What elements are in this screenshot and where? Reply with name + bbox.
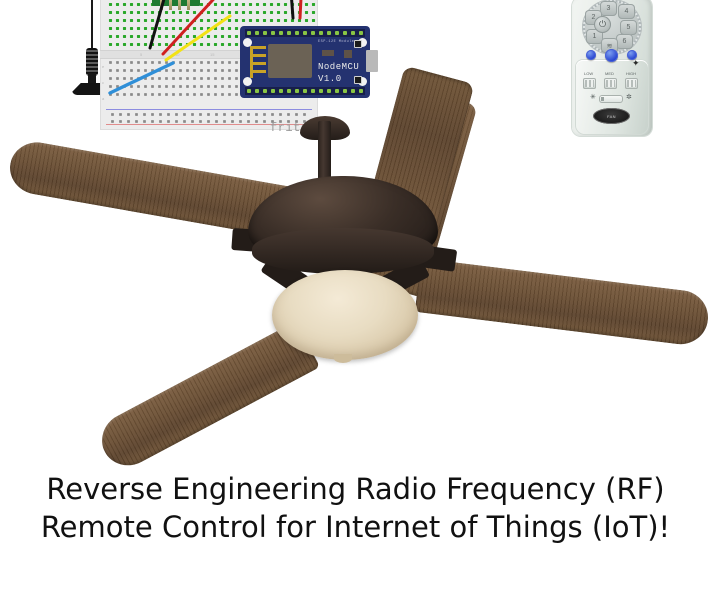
breadboard-hole	[284, 19, 287, 22]
breadboard-hole	[144, 11, 147, 14]
remote-speed-high-label: HIGH	[626, 71, 636, 76]
nodemcu-header-pin	[255, 31, 259, 35]
breadboard-hole	[207, 69, 210, 72]
breadboard-hole	[235, 27, 238, 30]
breadboard-hole	[172, 19, 175, 22]
breadboard-hole	[277, 3, 280, 6]
breadboard-hole	[207, 43, 210, 46]
rf-receiver-module	[152, 0, 200, 6]
breadboard-hole	[123, 43, 126, 46]
breadboard-hole	[130, 27, 133, 30]
nodemcu-pcb-antenna-icon	[250, 46, 266, 78]
breadboard-hole	[165, 43, 168, 46]
nodemcu-header-pin	[279, 31, 283, 35]
breadboard-hole	[193, 19, 196, 22]
ceiling-fan	[0, 78, 711, 468]
rf-pin	[178, 0, 181, 10]
breadboard-hole	[116, 43, 119, 46]
breadboard-col-label: 15	[210, 52, 214, 57]
dimmer-max-icon: ✲	[626, 94, 632, 101]
breadboard-hole	[109, 35, 112, 38]
slide-canvas: 5 10 15 20 25 e c a	[0, 0, 711, 592]
breadboard-hole	[123, 35, 126, 38]
breadboard-hole	[179, 27, 182, 30]
breadboard-hole	[172, 43, 175, 46]
breadboard-hole	[151, 43, 154, 46]
breadboard-hole	[109, 11, 112, 14]
breadboard-hole	[200, 43, 203, 46]
breadboard-hole	[179, 69, 182, 72]
breadboard-hole	[291, 3, 294, 6]
breadboard-hole	[214, 3, 217, 6]
breadboard-hole	[116, 19, 119, 22]
breadboard-hole	[228, 3, 231, 6]
breadboard-hole	[144, 19, 147, 22]
breadboard-hole	[228, 11, 231, 14]
breadboard-hole	[137, 43, 140, 46]
breadboard-hole	[221, 69, 224, 72]
breadboard-hole	[214, 11, 217, 14]
breadboard-hole	[109, 3, 112, 6]
dimmer-min-icon: ✳	[590, 94, 596, 101]
breadboard-hole	[151, 35, 154, 38]
breadboard-hole	[165, 61, 168, 64]
breadboard-hole	[221, 61, 224, 64]
breadboard-hole	[235, 3, 238, 6]
breadboard-hole	[130, 35, 133, 38]
nodemcu-name-line1: NodeMCU	[318, 62, 359, 72]
antenna-whip	[91, 0, 93, 52]
nodemcu-header-pin	[303, 31, 307, 35]
breadboard-hole	[123, 11, 126, 14]
breadboard-hole	[277, 11, 280, 14]
breadboard-hole	[165, 35, 168, 38]
breadboard-hole	[228, 19, 231, 22]
breadboard-hole	[158, 11, 161, 14]
remote-dial-button-4[interactable]: 4	[618, 4, 635, 19]
breadboard-hole	[200, 61, 203, 64]
nodemcu-header-pin	[343, 31, 347, 35]
breadboard-hole	[270, 11, 273, 14]
remote-blue-button-left[interactable]	[586, 50, 596, 60]
remote-speed-med-button[interactable]	[604, 78, 617, 89]
breadboard-hole	[172, 27, 175, 30]
breadboard-hole	[123, 69, 126, 72]
speed-grille	[585, 80, 594, 87]
breadboard-hole	[116, 61, 119, 64]
breadboard-hole	[221, 11, 224, 14]
breadboard-hole	[207, 3, 210, 6]
breadboard-hole	[284, 3, 287, 6]
remote-dial-button-3[interactable]: 3	[600, 1, 617, 16]
remote-dimmer-slider[interactable]	[599, 95, 623, 103]
breadboard-hole	[193, 61, 196, 64]
breadboard-hole	[186, 43, 189, 46]
breadboard-hole	[312, 19, 315, 22]
remote-speed-low-label: LOW	[584, 71, 593, 76]
breadboard-col-label: 10	[175, 52, 179, 57]
breadboard-col-label: 5	[140, 52, 142, 57]
breadboard-hole	[228, 35, 231, 38]
breadboard-hole	[242, 3, 245, 6]
breadboard-hole	[221, 43, 224, 46]
breadboard-hole	[298, 19, 301, 22]
speed-grille	[627, 80, 636, 87]
nodemcu-header-pin	[247, 31, 251, 35]
breadboard-hole	[193, 43, 196, 46]
breadboard-hole	[172, 35, 175, 38]
breadboard-hole	[130, 61, 133, 64]
breadboard-hole	[214, 43, 217, 46]
breadboard-hole	[221, 19, 224, 22]
breadboard-hole	[123, 27, 126, 30]
breadboard-hole	[151, 69, 154, 72]
breadboard-hole	[200, 19, 203, 22]
remote-blue-button-center[interactable]	[605, 49, 618, 62]
breadboard-hole	[137, 35, 140, 38]
breadboard-hole	[144, 27, 147, 30]
breadboard-hole	[270, 3, 273, 6]
remote-speed-high-button[interactable]	[625, 78, 638, 89]
breadboard-hole	[158, 35, 161, 38]
breadboard-hole	[186, 19, 189, 22]
breadboard-hole	[123, 61, 126, 64]
breadboard-hole	[109, 61, 112, 64]
breadboard-hole	[305, 19, 308, 22]
breadboard-hole	[298, 3, 301, 6]
breadboard-hole	[284, 11, 287, 14]
breadboard-hole	[298, 11, 301, 14]
nodemcu-header-pin	[351, 31, 355, 35]
breadboard-hole	[158, 43, 161, 46]
breadboard-hole	[221, 35, 224, 38]
breadboard-hole	[221, 27, 224, 30]
breadboard-hole	[200, 35, 203, 38]
breadboard-hole	[165, 11, 168, 14]
breadboard-hole	[186, 61, 189, 64]
fan-blade	[93, 321, 320, 475]
breadboard-hole	[151, 27, 154, 30]
nodemcu-header-pin	[263, 31, 267, 35]
breadboard-row-label: e	[102, 64, 104, 69]
breadboard-hole	[256, 19, 259, 22]
breadboard-hole	[165, 19, 168, 22]
nodemcu-header-pin	[271, 31, 275, 35]
breadboard-hole	[200, 11, 203, 14]
breadboard-hole	[312, 11, 315, 14]
breadboard-hole	[235, 11, 238, 14]
remote-logo-text: FAN	[607, 114, 616, 119]
breadboard-hole	[200, 27, 203, 30]
breadboard-hole	[116, 3, 119, 6]
breadboard-hole	[130, 43, 133, 46]
breadboard-hole	[200, 69, 203, 72]
breadboard-hole	[242, 11, 245, 14]
breadboard-hole	[151, 19, 154, 22]
breadboard-hole	[256, 3, 259, 6]
remote-power-button[interactable]: ⏻	[594, 16, 611, 33]
slider-thumb[interactable]	[601, 97, 604, 101]
nodemcu-smd-part	[322, 50, 334, 56]
breadboard-hole	[109, 19, 112, 22]
breadboard-hole	[165, 27, 168, 30]
remote-logo-badge: FAN	[593, 108, 630, 124]
breadboard-hole	[116, 69, 119, 72]
breadboard-hole	[116, 27, 119, 30]
nodemcu-header-pin	[335, 31, 339, 35]
breadboard-hole	[193, 35, 196, 38]
breadboard-hole	[109, 27, 112, 30]
nodemcu-header-pin	[359, 31, 363, 35]
breadboard-hole	[116, 35, 119, 38]
page-title: Reverse Engineering Radio Frequency (RF)…	[0, 470, 711, 546]
breadboard-hole	[214, 61, 217, 64]
breadboard-hole	[228, 69, 231, 72]
breadboard-hole	[235, 43, 238, 46]
breadboard-hole	[151, 11, 154, 14]
nodemcu-header-pin	[295, 31, 299, 35]
remote-speed-low-button[interactable]	[583, 78, 596, 89]
rf-pin	[160, 0, 163, 10]
breadboard-hole	[179, 43, 182, 46]
breadboard-hole	[186, 69, 189, 72]
fan-motor-ring	[252, 228, 434, 274]
breadboard-hole	[186, 27, 189, 30]
breadboard-hole	[228, 43, 231, 46]
esp8266-shield	[268, 44, 312, 78]
breadboard-hole	[109, 69, 112, 72]
breadboard-hole	[179, 61, 182, 64]
breadboard-hole	[305, 11, 308, 14]
breadboard-hole	[305, 3, 308, 6]
breadboard-hole	[270, 19, 273, 22]
breadboard-hole	[214, 27, 217, 30]
breadboard-hole	[137, 61, 140, 64]
breadboard-hole	[263, 3, 266, 6]
nodemcu-smd-part	[344, 50, 352, 58]
breadboard-hole	[249, 11, 252, 14]
breadboard-hole	[207, 11, 210, 14]
breadboard-hole	[193, 11, 196, 14]
breadboard-hole	[172, 61, 175, 64]
breadboard-hole	[144, 43, 147, 46]
breadboard-hole	[130, 3, 133, 6]
breadboard-hole	[144, 69, 147, 72]
breadboard-hole	[179, 11, 182, 14]
breadboard-hole	[207, 61, 210, 64]
breadboard-hole	[214, 19, 217, 22]
fan-light-finial	[334, 354, 352, 363]
breadboard-hole	[200, 3, 203, 6]
breadboard-hole	[165, 69, 168, 72]
breadboard-hole	[263, 19, 266, 22]
breadboard-hole	[130, 11, 133, 14]
breadboard-hole	[158, 61, 161, 64]
breadboard-hole	[186, 11, 189, 14]
breadboard-hole	[144, 3, 147, 6]
breadboard-hole	[221, 3, 224, 6]
breadboard-hole	[291, 11, 294, 14]
breadboard-hole	[144, 35, 147, 38]
breadboard-hole	[137, 27, 140, 30]
breadboard-hole	[207, 27, 210, 30]
breadboard-hole	[249, 19, 252, 22]
breadboard-hole	[109, 43, 112, 46]
breadboard-hole	[235, 35, 238, 38]
breadboard-hole	[263, 11, 266, 14]
breadboard-hole	[193, 27, 196, 30]
breadboard-hole	[228, 61, 231, 64]
nodemcu-flash-button[interactable]	[354, 40, 362, 48]
breadboard-hole	[228, 27, 231, 30]
breadboard-hole	[158, 69, 161, 72]
breadboard-hole	[179, 35, 182, 38]
rf-pin	[169, 0, 172, 10]
breadboard-hole	[249, 3, 252, 6]
breadboard-hole	[291, 19, 294, 22]
breadboard-hole	[242, 19, 245, 22]
breadboard-hole	[144, 61, 147, 64]
nodemcu-usb-port	[366, 50, 378, 72]
breadboard-hole	[130, 69, 133, 72]
nodemcu-header-pin	[287, 31, 291, 35]
breadboard-hole	[214, 35, 217, 38]
breadboard-hole	[116, 11, 119, 14]
breadboard-hole	[123, 3, 126, 6]
breadboard-hole	[186, 35, 189, 38]
breadboard-hole	[137, 11, 140, 14]
breadboard-hole	[137, 69, 140, 72]
nodemcu-header-pin	[327, 31, 331, 35]
breadboard-hole	[214, 69, 217, 72]
breadboard-hole	[158, 27, 161, 30]
remote-dial-button-5[interactable]: 5	[620, 20, 637, 35]
antenna-coil	[86, 48, 98, 76]
breadboard-hole	[312, 3, 315, 6]
remote-dial-button-6[interactable]: 6	[616, 34, 633, 49]
fan-light-glass	[272, 270, 418, 360]
breadboard-hole	[137, 19, 140, 22]
breadboard-hole	[123, 19, 126, 22]
breadboard-hole	[235, 19, 238, 22]
breadboard-hole	[235, 69, 238, 72]
breadboard-hole	[256, 11, 259, 14]
nodemcu-silk-small: ESP-12E Module	[318, 40, 354, 44]
breadboard-hole	[172, 11, 175, 14]
speed-grille	[606, 80, 615, 87]
breadboard-hole	[151, 61, 154, 64]
remote-speed-med-label: MED	[605, 71, 614, 76]
breadboard-hole	[172, 69, 175, 72]
breadboard-hole	[137, 3, 140, 6]
breadboard-hole	[235, 61, 238, 64]
breadboard-hole	[179, 19, 182, 22]
fan-blade	[415, 258, 711, 347]
rf-remote-control[interactable]: 3 4 2 5 1 6 ≋ ⏻ ✦ LOW MED HIGH ✳ ✲ FAN	[572, 0, 652, 136]
nodemcu-header-pin	[319, 31, 323, 35]
nodemcu-header-pin	[311, 31, 315, 35]
breadboard-hole	[158, 19, 161, 22]
nodemcu-header-top	[245, 29, 365, 37]
breadboard-hole	[207, 19, 210, 22]
breadboard-hole	[193, 69, 196, 72]
breadboard-hole	[130, 19, 133, 22]
rf-pin	[187, 0, 190, 10]
breadboard-hole	[277, 19, 280, 22]
breadboard-hole	[207, 35, 210, 38]
remote-fan-star-icon: ✦	[632, 59, 640, 68]
